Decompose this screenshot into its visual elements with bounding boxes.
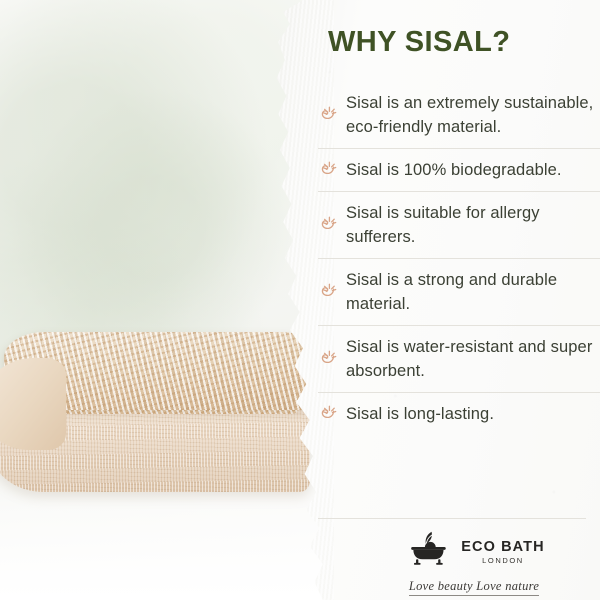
mitt-fold xyxy=(0,358,66,450)
sprout-icon xyxy=(319,281,341,303)
list-item-label: Sisal is suitable for allergy sufferers. xyxy=(346,201,594,249)
brand-city: LONDON xyxy=(482,557,524,565)
list-item-label: Sisal is a strong and durable material. xyxy=(346,268,594,316)
brand-tagline: Love beauty Love nature xyxy=(409,579,539,596)
content-column: WHY SISAL? Sisal is an extremely sustain… xyxy=(318,0,600,600)
sprout-icon xyxy=(319,159,341,181)
sprout-icon xyxy=(319,403,341,425)
list-item: Sisal is water-resistant and super absor… xyxy=(318,325,600,392)
list-item: Sisal is an extremely sustainable, eco-f… xyxy=(318,82,600,148)
bathtub-with-leaf-icon xyxy=(403,530,453,574)
sprout-icon xyxy=(319,348,341,370)
brand-logo: ECO BATH LONDON Love beauty Love nature xyxy=(374,530,574,596)
list-item: Sisal is 100% biodegradable. xyxy=(318,148,600,191)
logo-divider xyxy=(318,518,586,519)
list-item: Sisal is a strong and durable material. xyxy=(318,258,600,325)
sprout-icon xyxy=(319,104,341,126)
logo-row: ECO BATH LONDON xyxy=(403,530,544,574)
list-item-label: Sisal is water-resistant and super absor… xyxy=(346,335,594,383)
poster: WHY SISAL? Sisal is an extremely sustain… xyxy=(0,0,600,600)
sisal-mitt-image xyxy=(0,332,312,502)
benefits-list: Sisal is an extremely sustainable, eco-f… xyxy=(318,82,600,435)
page-title: WHY SISAL? xyxy=(328,26,598,59)
list-item-label: Sisal is long-lasting. xyxy=(346,402,494,426)
logo-wordmark: ECO BATH LONDON xyxy=(461,540,544,565)
list-item: Sisal is suitable for allergy sufferers. xyxy=(318,191,600,258)
list-item-label: Sisal is an extremely sustainable, eco-f… xyxy=(346,91,594,139)
list-item: Sisal is long-lasting. xyxy=(318,392,600,435)
list-item-label: Sisal is 100% biodegradable. xyxy=(346,158,562,182)
sprout-icon xyxy=(319,214,341,236)
product-photo xyxy=(0,0,330,600)
brand-name: ECO BATH xyxy=(461,540,544,555)
